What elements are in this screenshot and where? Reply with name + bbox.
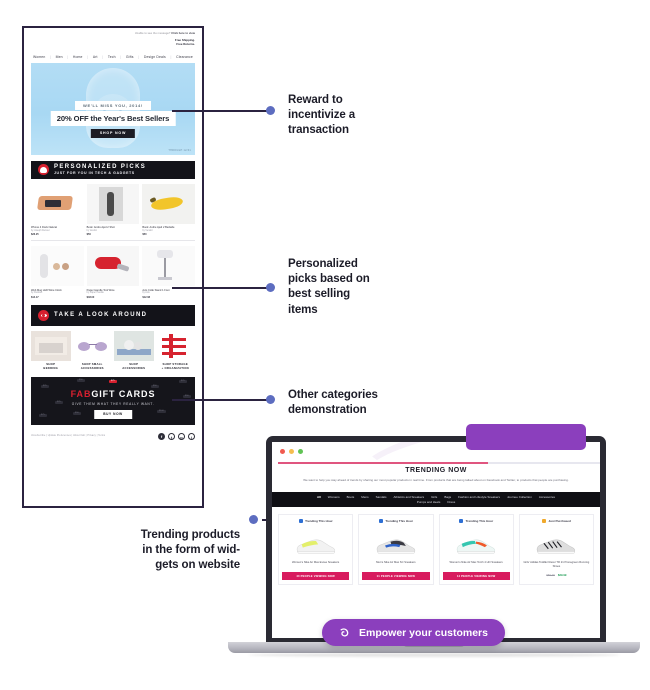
picks-title: PERSONALIZED PICKS [54,164,146,171]
connector-line-3 [172,399,270,401]
connector-dot-2 [266,283,275,292]
pinterest-icon[interactable]: p [178,433,185,440]
nav-divider: | [170,55,171,59]
product-grid-row-2: Web Mug LED Wine Clock by Duckies $14.17… [31,246,195,298]
browser-window-controls [280,449,303,454]
email-nav: Women | Men | Home | Art | Tech | Gifts … [31,52,195,63]
product-card[interactable]: Trending This Hour Women's Nike Air Max … [439,514,514,585]
nav-item-tech[interactable]: Tech [108,55,116,59]
card-badge: Trending This Hour [299,519,333,523]
site-category-nav: All Womens Boots Mens Sandals Athletics … [272,492,600,507]
sneaker-icon [454,536,498,556]
product-name: Women's Nike Air Max Excee Sneakers [292,561,339,569]
product-name: Men's Nike Air Max SC Sneakers [376,561,416,569]
nav-divider: | [120,55,121,59]
category-label-line2: ACCESSORIES [114,367,154,371]
sneaker-icon [534,536,578,556]
category-image [73,331,113,361]
hero-kicker: WE'LL MISS YOU, 2014! [75,101,151,110]
product-card[interactable]: iPhone 4 Dock Natural by Joseph Denner $… [31,184,84,236]
decorative-tag: $25 [41,385,49,388]
nav-item-women[interactable]: Women [33,55,45,59]
product-card[interactable]: Book: Andre Ajed 2 Shot by Vendor $50 [87,184,140,236]
decorative-tag: $100 [157,410,166,413]
badge-label: Trending This Hour [385,519,413,523]
product-price: $12.08 [142,296,195,299]
site-nav-item-pumps-heels[interactable]: Pumps and Heels [417,500,441,505]
hero-shop-now-button[interactable]: SHOP NOW [91,129,135,138]
connector-dot-1 [266,106,275,115]
category-label: SHOP BEDDING [31,363,71,371]
product-image [443,526,510,558]
divider [31,240,195,241]
hero-banner: WE'LL MISS YOU, 2014! 20% OFF the Year's… [31,63,195,155]
shipping-note: Free Shipping. Free Returns. [31,38,195,47]
email-header: Unable to see the message? Click here to… [24,28,202,63]
product-image [87,184,140,224]
category-image [156,331,196,361]
gift-subhead: GIVE THEM WHAT THEY REALLY WANT. [72,402,155,406]
laptop-mockup: TRENDING NOW We want to help you stay ah… [228,436,640,671]
accent-bar-secondary [488,462,600,464]
gift-cards-banner[interactable]: $25 $50 $75 $50 $25 $50 $25 $50 $100 $75… [31,377,195,425]
nav-item-design-deals[interactable]: Design Deals [144,55,166,59]
trending-now-title: TRENDING NOW [272,467,600,474]
annotation-other-categories: Other categories demonstration [288,388,378,418]
annotation-line: Personalized [288,257,370,272]
card-badge: Trending This Hour [459,519,493,523]
product-image [31,184,84,224]
close-dot-icon[interactable] [280,449,285,454]
category-image [31,331,71,361]
product-card[interactable]: Web Mug LED Wine Clock by Duckies $14.17 [31,246,84,298]
santa-icon [38,164,49,175]
nav-row-secondary: Pumps and Heels Dress [278,500,594,505]
nav-divider: | [102,55,103,59]
category-card[interactable]: SHOP STORAGE + ORGANIZATION [156,331,196,371]
product-image [282,526,349,558]
slide-canvas: Unable to see the message? Click here to… [0,0,650,690]
laptop-body: TRENDING NOW We want to help you stay ah… [266,436,606,644]
product-old-price: $50.00 [546,573,555,577]
product-price: $14.17 [31,296,84,299]
chart-icon [379,519,383,523]
product-card[interactable]: Just Purchased Girls' Adidas Toddler Rac… [519,514,594,585]
site-nav-item-sandals[interactable]: Sandals [376,495,387,500]
annotation-line: transaction [288,123,355,138]
site-nav-item-fashion-lifestyle[interactable]: Fashion and Lifestyle Sneakers [458,495,500,500]
viewing-now-badge[interactable]: 40 PEOPLE VIEWING NOW [282,572,349,580]
chart-icon [299,519,303,523]
nav-item-men[interactable]: Men [56,55,63,59]
eye-icon [38,310,49,321]
product-price: $50.00$39.99 [546,573,566,577]
nav-divider: | [87,55,88,59]
product-image [142,246,195,286]
empower-button-label: Empower your customers [359,627,488,639]
preheader-text: Unable to see the message? [135,32,171,35]
category-card[interactable]: SHOP BEDDING [31,331,71,371]
site-nav-item-boots[interactable]: Boots [347,495,355,500]
product-price: $48.00 [87,296,140,299]
annotation-line: in the form of wid- [118,543,240,558]
decorative-tag: $50 [77,379,85,382]
laptop-screen: TRENDING NOW We want to help you stay ah… [272,442,600,638]
viewing-now-badge[interactable]: 11 PEOPLE VIEWING NOW [362,572,429,580]
decorative-tag: $75 [39,414,47,417]
decorative-tag: $50 [183,395,191,398]
look-around-title: TAKE A LOOK AROUND [54,312,147,319]
annotation-line: Trending products [118,528,240,543]
product-card[interactable]: Trending This Hour Men's Nike Air Max SC… [358,514,433,585]
cart-icon [542,519,546,523]
category-label-line2: BEDDING [31,367,71,371]
annotation-line: Other categories [288,388,378,403]
nav-divider: | [67,55,68,59]
site-nav-item-journee[interactable]: Journee Collection [507,495,532,500]
product-image [87,246,140,286]
annotation-line: demonstration [288,403,378,418]
annotation-line: items [288,303,370,318]
product-card[interactable]: Book: Andre Ajed 2 Bedside by Vendor $50 [142,184,195,236]
product-name: Women's Nike Air Max Torch 4 HO Sneakers [449,561,502,569]
site-nav-item-dress[interactable]: Dress [447,500,455,505]
product-image [523,526,590,558]
shipping-line-2: Free Returns. [31,42,195,46]
annotation-line: best selling [288,287,370,302]
accent-bar [278,462,488,464]
product-sale-price: $39.99 [558,573,567,577]
annotation-line: gets on website [118,558,240,573]
maximize-dot-icon[interactable] [298,449,303,454]
annotation-line: Reward to [288,93,355,108]
category-image [114,331,154,361]
trending-now-description: We want to help you stay ahead of trends… [290,478,582,483]
annotation-personalized-picks: Personalized picks based on best selling… [288,257,370,318]
empower-your-customers-button[interactable]: Empower your customers [322,619,505,646]
category-label: SHOP STORAGE + ORGANIZATION [156,363,196,371]
card-badge: Just Purchased [542,519,571,523]
nav-item-art[interactable]: Art [93,55,98,59]
category-card[interactable]: SHOP SMALL ACCESSORIES [73,331,113,371]
annotation-line: picks based on [288,272,370,287]
product-image [31,246,84,286]
product-price: $50 [142,233,195,236]
category-card[interactable]: SHOP ACCESSORIES [114,331,154,371]
section-header-take-a-look-around: TAKE A LOOK AROUND [31,305,195,326]
product-price: $26.25 [31,233,84,236]
nav-item-clearance[interactable]: Clearance [176,55,193,59]
picks-subtitle: JUST FOR YOU IN TECH & GADGETS [54,171,146,175]
product-grid-row-1: iPhone 4 Dock Natural by Joseph Denner $… [31,184,195,236]
site-nav-item-accessories[interactable]: Accessories [539,495,555,500]
instagram-icon[interactable]: i [188,433,195,440]
twitter-icon[interactable]: t [168,433,175,440]
annotation-line: incentivize a [288,108,355,123]
product-name: Girls' Adidas Toddler Racer TR 21 Proneg… [523,561,590,569]
product-card[interactable]: Axis Colle Stand 1 Foot by Axis $12.08 [142,246,195,298]
section-header-personalized-picks: PERSONALIZED PICKS JUST FOR YOU IN TECH … [31,161,195,179]
card-badge: Trending This Hour [379,519,413,523]
site-nav-item-all[interactable]: All [317,495,321,500]
sneaker-icon [294,536,338,556]
decorative-tag: $50 [151,385,159,388]
hero-headline: 20% OFF the Year's Best Sellers [51,111,176,126]
viewing-now-badge[interactable]: 14 PEOPLE VIEWING NOW [443,572,510,580]
chart-icon [459,519,463,523]
email-mockup: Unable to see the message? Click here to… [22,26,204,508]
category-grid: SHOP BEDDING SHOP SMALL ACCESSORIES [31,331,195,371]
hero-credit: THROUGH 12/31 [168,149,191,152]
nav-divider: | [50,55,51,59]
product-image [142,184,195,224]
annotation-trending-widgets: Trending products in the form of wid- ge… [118,528,240,574]
connector-line-1 [172,110,270,112]
badge-label: Trending This Hour [466,519,494,523]
decorative-tag: $50 [73,412,81,415]
sneaker-icon [374,536,418,556]
product-card[interactable]: Paper Handle Tool Wine by Paper Handle $… [87,246,140,298]
site-nav-item-womens[interactable]: Womens [328,495,340,500]
gift-buy-now-button[interactable]: BUY NOW [94,410,132,419]
gift-brand: FAB [71,389,92,399]
category-label-line2: + ORGANIZATION [156,367,196,371]
decorative-tag: $25 [55,401,63,404]
connector-dot-3 [266,395,275,404]
nav-divider: | [138,55,139,59]
badge-label: Just Purchased [548,519,570,523]
nav-item-gifts[interactable]: Gifts [126,55,134,59]
gift-headline: FABGIFT CARDS [71,389,156,399]
email-preheader: Unable to see the message? Click here to… [31,32,195,35]
product-card[interactable]: Trending This Hour Women's Nike Air Max … [278,514,353,585]
category-label: SHOP SMALL ACCESSORIES [73,363,113,371]
gift-headline-rest: GIFT CARDS [91,389,155,399]
decorative-tag: $25 [179,380,187,383]
facebook-icon[interactable]: f [158,433,165,440]
decorative-tag: $75 [109,380,117,383]
connector-line-2 [172,287,270,289]
footer-links[interactable]: Unsubscribe | Update Preferences | About… [31,435,105,437]
product-image [362,526,429,558]
laptop-shadow [248,653,620,657]
nav-item-home[interactable]: Home [73,55,83,59]
product-price: $50 [87,233,140,236]
minimize-dot-icon[interactable] [289,449,294,454]
social-icons: f t p i [158,433,195,440]
email-footer: Unsubscribe | Update Preferences | About… [31,430,195,440]
section-header-text: PERSONALIZED PICKS JUST FOR YOU IN TECH … [54,164,146,175]
site-nav-item-mens[interactable]: Mens [361,495,368,500]
purple-overlay-tab [466,424,586,450]
flexed-biceps-icon [339,626,352,639]
annotation-reward: Reward to incentivize a transaction [288,93,355,139]
category-label: SHOP ACCESSORIES [114,363,154,371]
preheader-link[interactable]: Click here to view [171,32,195,35]
trending-product-cards: Trending This Hour Women's Nike Air Max … [278,514,594,585]
badge-label: Trending This Hour [305,519,333,523]
category-label-line2: ACCESSORIES [73,367,113,371]
